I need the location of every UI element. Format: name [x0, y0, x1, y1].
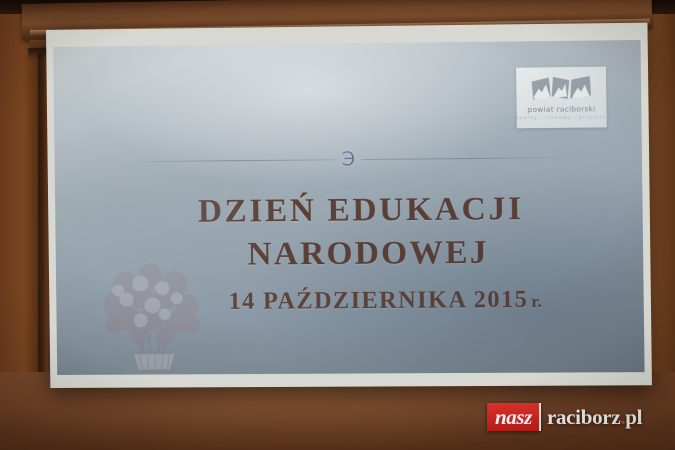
aldus-leaf-ornament-icon: ℈: [342, 148, 356, 167]
projection-screen-surface: powiat raciborski otwarty · ciekawy · pr…: [53, 40, 644, 375]
watermark-domain-name: raciborz: [547, 405, 620, 429]
watermark-brand-right: raciborz.pl: [541, 403, 646, 431]
slide-title-line-2: NARODOWEJ: [56, 230, 644, 278]
slide-date-text: 14 PAŹDZIERNIKA 2015: [228, 287, 528, 315]
decorative-divider: ℈: [137, 145, 563, 173]
logo-tagline-text: otwarty · ciekawy · przyjazny: [513, 115, 611, 121]
projection-screen-frame: powiat raciborski otwarty · ciekawy · pr…: [46, 23, 652, 388]
presentation-slide: powiat raciborski otwarty · ciekawy · pr…: [53, 40, 644, 375]
photo-scene: powiat raciborski otwarty · ciekawy · pr…: [0, 0, 675, 450]
divider-line-left: [137, 159, 336, 162]
slide-date: 14 PAŹDZIERNIKA 2015r.: [56, 286, 644, 317]
watermark-brand-left: nasz: [487, 403, 541, 431]
logo-name-text: powiat raciborski: [527, 104, 595, 114]
slide-title: DZIEŃ EDUKACJI NARODOWEJ: [55, 187, 643, 278]
powiat-raciborski-logo: powiat raciborski otwarty · ciekawy · pr…: [516, 67, 607, 129]
divider-line-right: [361, 157, 562, 160]
nasz-raciborz-watermark: nasz raciborz.pl: [487, 403, 646, 431]
slide-date-suffix: r.: [531, 292, 542, 311]
watermark-tld: pl: [625, 405, 642, 429]
map-with-mountains-icon: [530, 74, 592, 102]
slide-title-line-1: DZIEŃ EDUKACJI: [55, 187, 643, 235]
